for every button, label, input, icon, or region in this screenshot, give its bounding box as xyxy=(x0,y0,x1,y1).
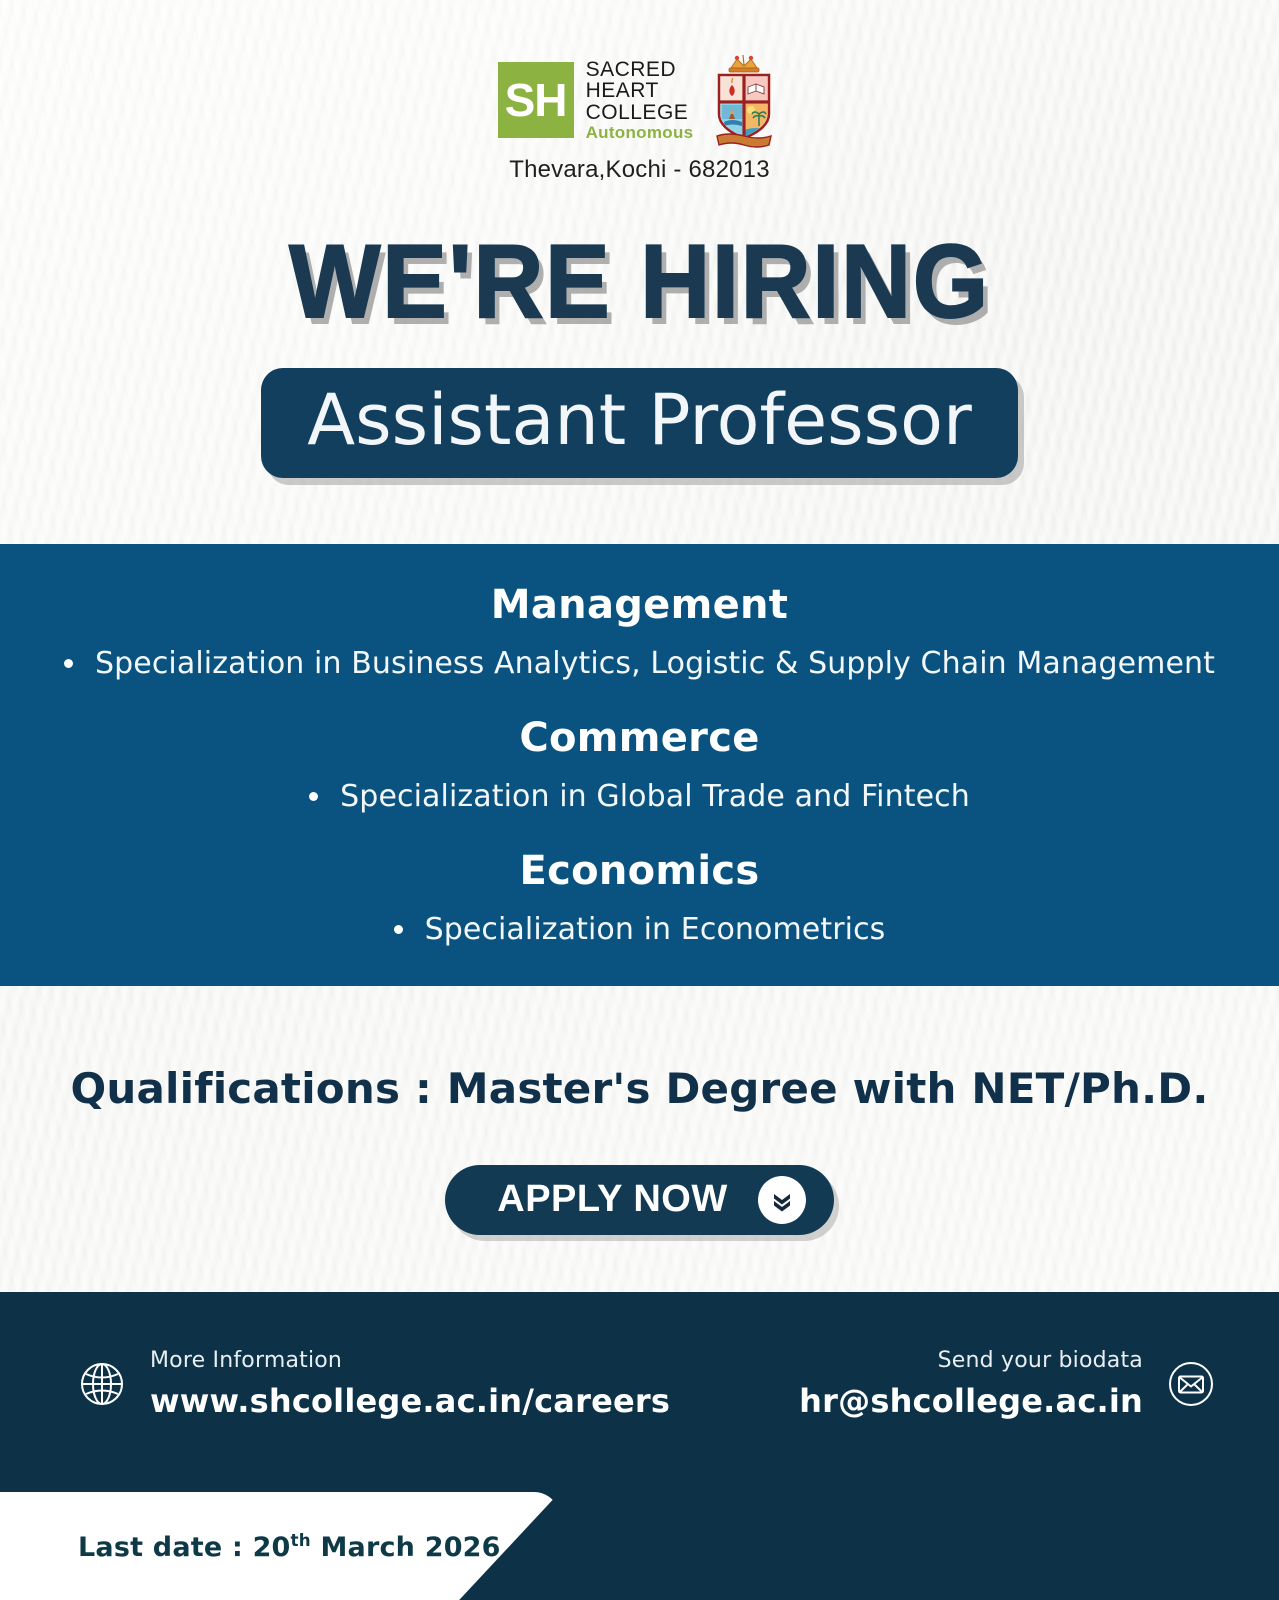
apply-now-label: APPLY NOW xyxy=(497,1178,727,1221)
specialization-text: Specialization in Business Analytics, Lo… xyxy=(95,646,1215,681)
college-address: Thevara,Kochi - 682013 xyxy=(509,156,770,184)
sh-monogram-text: SH xyxy=(505,77,567,123)
last-date-banner: Last date : 20th March 2026 xyxy=(0,1492,560,1600)
website-contact[interactable]: More Information www.shcollege.ac.in/car… xyxy=(78,1348,670,1420)
specialization-text: Specialization in Econometrics xyxy=(425,912,886,947)
bullet-icon xyxy=(64,659,73,668)
website-text-block: More Information www.shcollege.ac.in/car… xyxy=(150,1348,670,1420)
apply-now-button[interactable]: APPLY NOW xyxy=(445,1165,833,1235)
bullet-icon xyxy=(309,792,318,801)
last-date-text: Last date : 20th March 2026 xyxy=(78,1530,501,1563)
college-crest-icon xyxy=(707,52,781,148)
last-date-prefix: Last date : 20 xyxy=(78,1532,291,1563)
qualifications-text: Qualifications : Master's Degree with NE… xyxy=(0,1064,1279,1113)
college-name-line-2: HEART xyxy=(586,80,694,101)
sh-monogram-icon: SH xyxy=(498,62,574,138)
last-date-ordinal: th xyxy=(291,1530,311,1550)
role-pill-wrapper: Assistant Professor xyxy=(0,368,1279,478)
college-autonomous-label: Autonomous xyxy=(586,124,694,141)
role-title: Assistant Professor xyxy=(307,379,971,461)
department-title: Commerce xyxy=(0,715,1279,761)
college-name-line-1: SACRED xyxy=(586,59,694,80)
department-specialization: Specialization in Global Trade and Finte… xyxy=(0,779,1279,814)
department-management: Management Specialization in Business An… xyxy=(0,582,1279,681)
department-title: Economics xyxy=(0,848,1279,894)
college-logo: SH SACRED HEART COLLEGE Autonomous xyxy=(498,52,782,148)
email-contact[interactable]: Send your biodata hr@shcollege.ac.in xyxy=(799,1348,1217,1420)
email-address[interactable]: hr@shcollege.ac.in xyxy=(799,1382,1143,1420)
departments-band: Management Specialization in Business An… xyxy=(0,544,1279,986)
poster-footer: More Information www.shcollege.ac.in/car… xyxy=(0,1292,1279,1600)
footer-contacts: More Information www.shcollege.ac.in/car… xyxy=(0,1292,1279,1420)
last-date-suffix: March 2026 xyxy=(311,1532,501,1563)
email-text-block: Send your biodata hr@shcollege.ac.in xyxy=(799,1348,1143,1420)
logo-mark: SH SACRED HEART COLLEGE Autonomous xyxy=(498,59,694,142)
email-caption: Send your biodata xyxy=(799,1348,1143,1373)
college-name-line-3: COLLEGE xyxy=(586,102,694,123)
specialization-text: Specialization in Global Trade and Finte… xyxy=(340,779,970,814)
globe-icon xyxy=(78,1360,126,1408)
bullet-icon xyxy=(394,925,403,934)
envelope-icon xyxy=(1165,1358,1217,1410)
website-caption: More Information xyxy=(150,1348,670,1373)
double-chevron-down-icon[interactable] xyxy=(758,1176,806,1224)
recruitment-poster: SH SACRED HEART COLLEGE Autonomous xyxy=(0,0,1279,1600)
department-economics: Economics Specialization in Econometrics xyxy=(0,848,1279,947)
department-specialization: Specialization in Econometrics xyxy=(0,912,1279,947)
hiring-headline: WE'RE HIRING xyxy=(45,230,1234,334)
department-title: Management xyxy=(0,582,1279,628)
apply-button-wrapper: APPLY NOW xyxy=(0,1165,1279,1235)
college-name-block: SACRED HEART COLLEGE Autonomous xyxy=(586,59,694,142)
department-specialization: Specialization in Business Analytics, Lo… xyxy=(0,646,1279,681)
department-commerce: Commerce Specialization in Global Trade … xyxy=(0,715,1279,814)
poster-header: SH SACRED HEART COLLEGE Autonomous xyxy=(0,0,1279,184)
role-pill: Assistant Professor xyxy=(261,368,1017,478)
website-url[interactable]: www.shcollege.ac.in/careers xyxy=(150,1382,670,1420)
